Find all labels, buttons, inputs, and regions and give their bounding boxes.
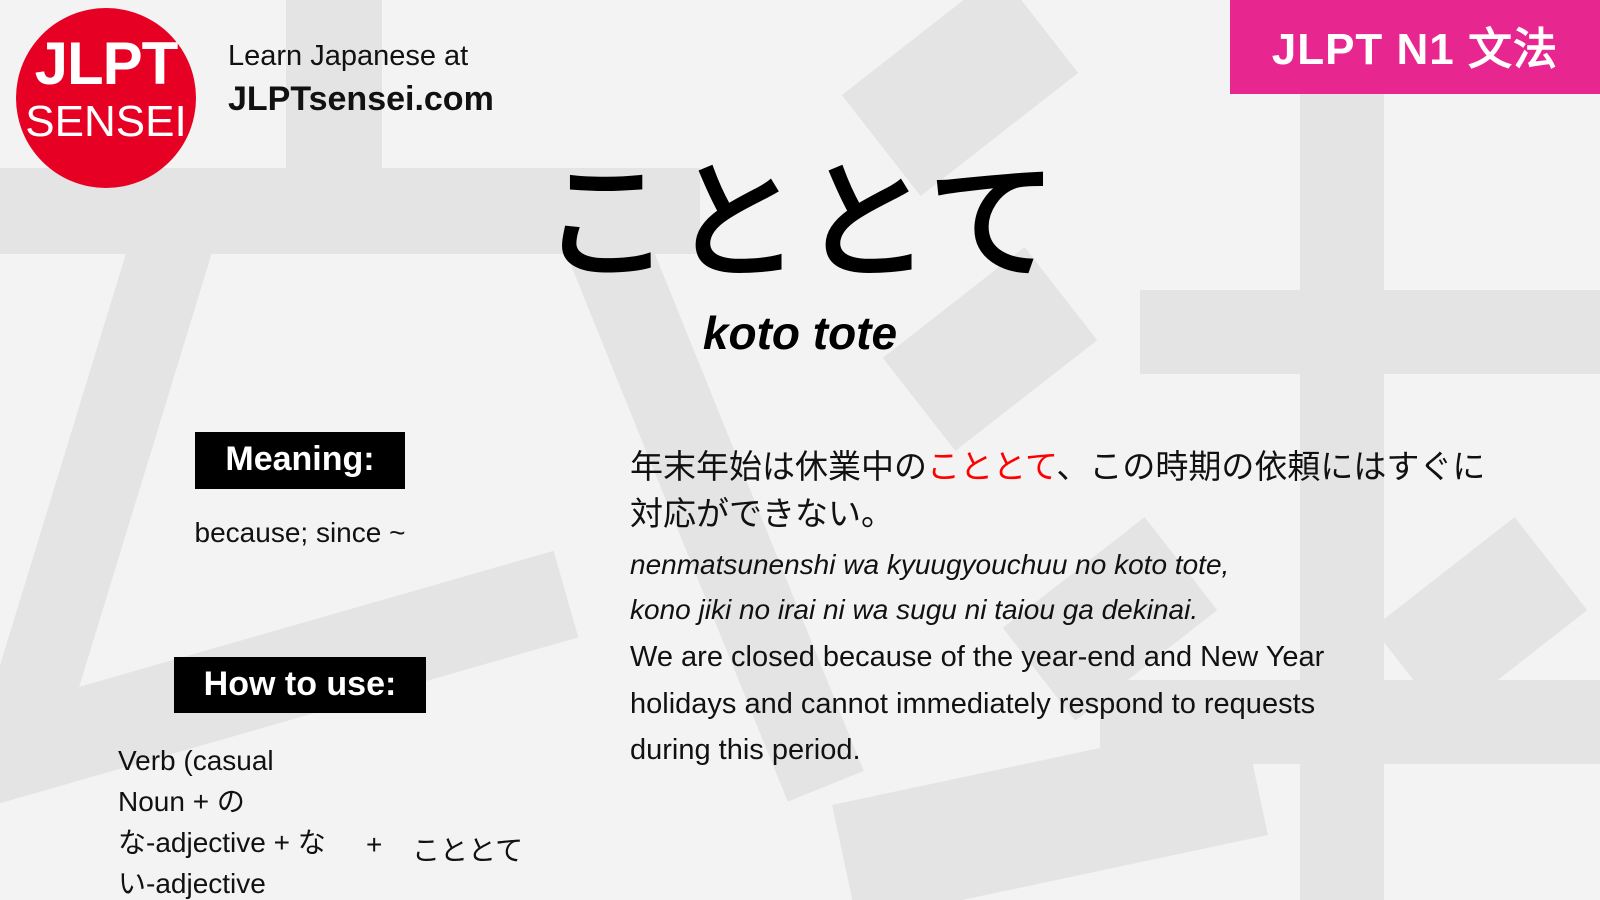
logo-secondary-text: SENSEI xyxy=(16,100,196,144)
example-english-line: during this period. xyxy=(630,727,1490,773)
brand-block: Learn Japanese at JLPTsensei.com xyxy=(228,38,494,121)
how-to-use-label: How to use: xyxy=(174,657,427,714)
usage-line: Noun + の xyxy=(118,782,326,823)
example-sentence-japanese: 年末年始は休業中のこととて、この時期の依頼にはすぐに対応ができない。 xyxy=(630,444,1490,538)
jlpt-level-badge: JLPT N1 文法 xyxy=(1230,0,1600,94)
example-romaji-line: kono jiki no irai ni wa sugu ni taiou ga… xyxy=(630,587,1490,632)
meaning-label: Meaning: xyxy=(195,432,404,489)
usage-line: い-adjective xyxy=(118,864,326,900)
example-sentence-english: We are closed because of the year-end an… xyxy=(630,634,1490,773)
usage-pattern-list: Verb (casual Noun + の な-adjective + な い-… xyxy=(118,741,326,900)
example-english-line: holidays and cannot immediately respond … xyxy=(630,681,1490,727)
meaning-tag-row: Meaning: xyxy=(0,432,600,489)
example-english-line: We are closed because of the year-end an… xyxy=(630,634,1490,680)
grammar-point-romaji: koto tote xyxy=(0,306,1600,360)
usage-line: Verb (casual xyxy=(118,741,326,782)
title-block: こととて koto tote xyxy=(0,160,1600,360)
example-sentence-romaji: nenmatsunenshi wa kyuugyouchuu no koto t… xyxy=(630,542,1490,633)
logo-primary-text: JLPT xyxy=(16,34,196,94)
brand-site-name: JLPTsensei.com xyxy=(228,78,494,121)
brand-tagline: Learn Japanese at xyxy=(228,38,494,74)
left-column: Meaning: because; since ~ How to use: Ve… xyxy=(0,432,600,900)
usage-suffix-form: こととて xyxy=(412,829,523,869)
example-jp-pre: 年末年始は休業中の xyxy=(630,448,927,485)
how-to-use-tag-row: How to use: xyxy=(0,657,600,714)
example-jp-highlight: こととて xyxy=(927,448,1056,485)
usage-line: な-adjective + な xyxy=(118,823,326,864)
usage-plus-sign: + xyxy=(366,829,382,861)
grammar-card: JLPT SENSEI Learn Japanese at JLPTsensei… xyxy=(0,0,1600,900)
usage-area: Verb (casual Noun + の な-adjective + な い-… xyxy=(0,741,600,900)
example-romaji-line: nenmatsunenshi wa kyuugyouchuu no koto t… xyxy=(630,542,1490,587)
grammar-point-japanese: こととて xyxy=(0,160,1600,288)
meaning-value: because; since ~ xyxy=(0,517,600,549)
example-column: 年末年始は休業中のこととて、この時期の依頼にはすぐに対応ができない。 nenma… xyxy=(630,444,1490,774)
